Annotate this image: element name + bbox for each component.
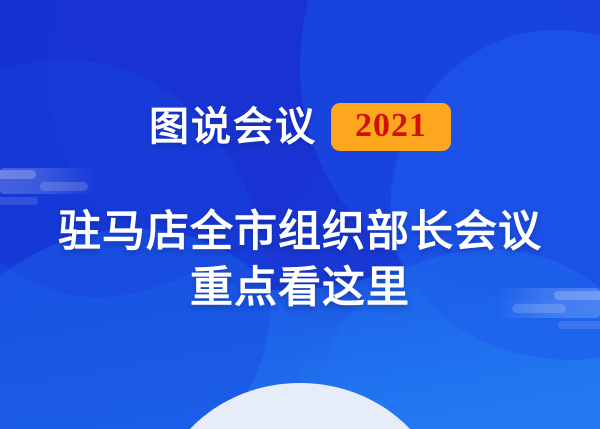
headline-line-1: 驻马店全市组织部长会议 (58, 208, 542, 256)
poster-content: 图说会议 2021 驻马店全市组织部长会议 重点看这里 (0, 0, 600, 429)
kicker-label: 图说会议 (149, 107, 317, 147)
year-badge-label: 2021 (355, 109, 427, 143)
page-title: 驻马店全市组织部长会议 重点看这里 (58, 205, 542, 317)
poster-banner: 图说会议 2021 驻马店全市组织部长会议 重点看这里 (0, 0, 600, 429)
kicker-row: 图说会议 2021 (149, 103, 451, 151)
headline-line-2: 重点看这里 (58, 261, 542, 317)
year-badge: 2021 (331, 103, 451, 151)
